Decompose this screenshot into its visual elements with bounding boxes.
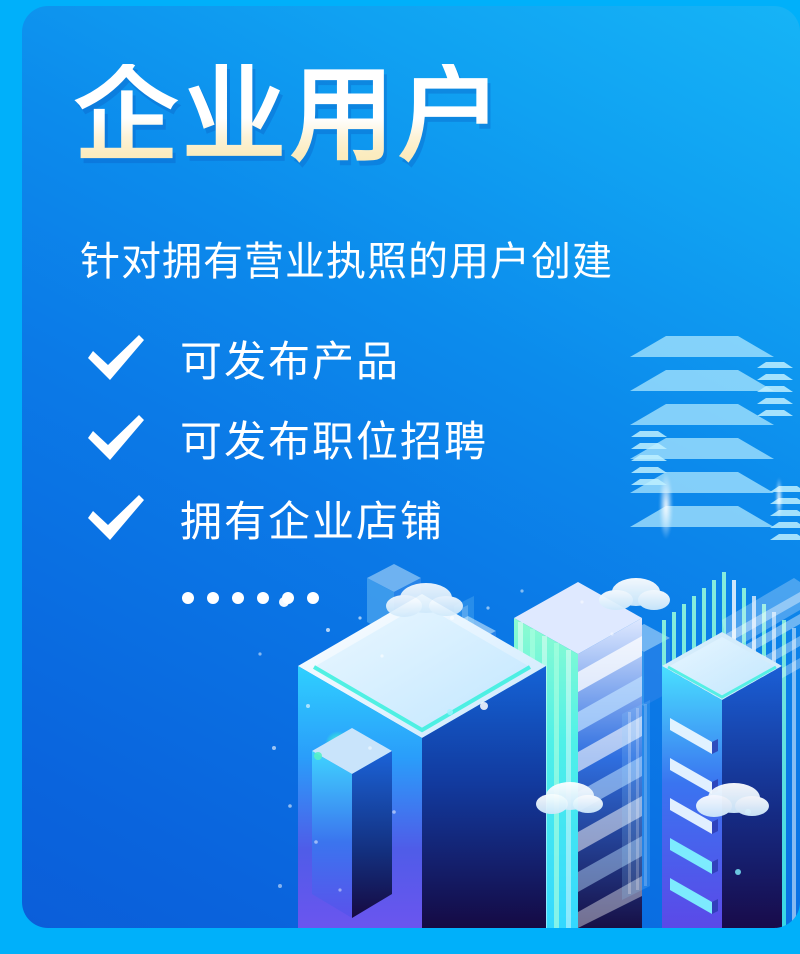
dot: [207, 592, 219, 604]
check-icon: [84, 332, 148, 384]
page-subtitle: 针对拥有营业执照的用户创建: [80, 238, 613, 286]
page-title: 企业用户: [74, 64, 506, 168]
feature-label: 拥有企业店铺: [180, 488, 444, 549]
ghost-column: [622, 700, 650, 900]
dot: [282, 592, 294, 604]
check-icon: [84, 412, 148, 464]
right-tower: [662, 632, 782, 928]
left-small-tower: [312, 728, 392, 918]
check-icon: [84, 492, 148, 544]
feature-list: 可发布产品 可发布职位招聘 拥有企业店铺: [84, 318, 604, 558]
list-item: 可发布产品: [84, 318, 604, 398]
ellipsis-dots: [182, 592, 319, 604]
dot: [182, 592, 194, 604]
list-item: 可发布职位招聘: [84, 398, 604, 478]
dot: [232, 592, 244, 604]
feature-label: 可发布产品: [180, 328, 400, 389]
enterprise-user-promo-card: 企业用户 针对拥有营业执照的用户创建 可发布产品 可发布职位招聘: [22, 6, 800, 928]
dot: [257, 592, 269, 604]
list-item: 拥有企业店铺: [84, 478, 604, 558]
feature-label: 可发布职位招聘: [180, 408, 488, 469]
page-root: 企业用户 针对拥有营业执照的用户创建 可发布产品 可发布职位招聘: [0, 0, 800, 954]
dot: [307, 592, 319, 604]
cloud-right-upper: [599, 578, 670, 610]
